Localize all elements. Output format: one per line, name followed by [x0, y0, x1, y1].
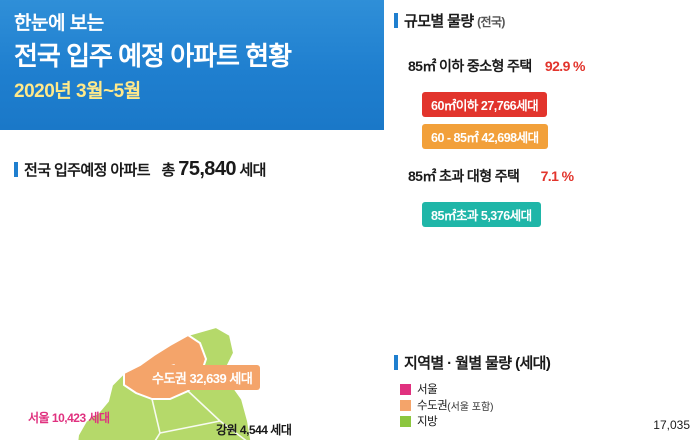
left-section-title-text: 전국 입주예정 아파트 [24, 162, 150, 179]
legend-label-jibang: 지방 [417, 413, 437, 429]
legend-swatch-jibang [400, 416, 411, 427]
infographic-root: 한눈에 보는 전국 입주 예정 아파트 현황 2020년 3월~5월 전국 입주… [0, 0, 700, 440]
legend-swatch-seoul [400, 384, 411, 395]
left-section-title: 전국 입주예정 아파트 총 75,840 세대 [14, 158, 266, 181]
map-label-gangwon: 강원 4,544 세대 [216, 421, 291, 438]
legend-item-sudogwon: 수도권 (서울 포함) [400, 397, 494, 413]
scale-large-text: 85㎡ 초과 대형 주택 [408, 168, 519, 184]
tag-over-85: 85㎡초과 5,376세대 [422, 202, 541, 227]
region-month-panel-title: 지역별 · 월별 물량 (세대) [394, 352, 550, 373]
scale-small-percent: 92.9 % [545, 58, 585, 74]
scale-row-small-label: 85㎡ 이하 중소형 주택 92.9 % [408, 56, 585, 76]
region-month-title-sub: (세대) [515, 355, 550, 372]
blue-bar-icon-2 [394, 13, 398, 28]
legend-item-jibang: 지방 [400, 413, 494, 429]
tag-under-60: 60㎡이하 27,766세대 [422, 92, 547, 117]
bar-value-first: 17,035 [653, 418, 690, 432]
total-label: 총 [162, 162, 175, 179]
legend-item-seoul: 서울 [400, 381, 494, 397]
map-label-seoul: 서울 10,423 세대 [28, 409, 110, 426]
chart-legend: 서울 수도권 (서울 포함) 지방 [400, 381, 494, 429]
legend-sub-sudogwon: (서울 포함) [447, 398, 493, 413]
scale-panel-title-text: 규모별 물량 [404, 13, 474, 30]
page-title: 전국 입주 예정 아파트 현황 [14, 36, 291, 73]
legend-label-sudogwon: 수도권 [417, 397, 447, 413]
banner-period: 2020년 3월~5월 [14, 76, 141, 103]
legend-label-seoul: 서울 [417, 381, 437, 397]
scale-panel-title-sub: (전국) [477, 15, 505, 29]
map-label-sudogwon: 수도권 32,639 세대 [144, 365, 260, 390]
scale-panel-title: 규모별 물량 (전국) [394, 10, 505, 31]
tag-60-to-85: 60 - 85㎡ 42,698세대 [422, 124, 548, 149]
region-month-title-text: 지역별 · 월별 물량 [404, 355, 512, 372]
korea-map: 수도권 32,639 세대 서울 10,423 세대 인천·경기 22,216 … [20, 325, 370, 440]
legend-swatch-sudogwon [400, 400, 411, 411]
blue-bar-icon [14, 162, 18, 177]
scale-row-large-label: 85㎡ 초과 대형 주택 7.1 % [408, 166, 573, 186]
banner-line-1: 한눈에 보는 [14, 8, 104, 35]
blue-bar-icon-3 [394, 355, 398, 370]
scale-small-text: 85㎡ 이하 중소형 주택 [408, 58, 532, 74]
total-value: 75,840 [178, 158, 236, 180]
right-panel: 규모별 물량 (전국) 85㎡ 이하 중소형 주택 92.9 % 60㎡이하 2… [384, 0, 700, 440]
left-panel: 전국 입주예정 아파트 총 75,840 세대 [0, 130, 383, 440]
total-unit: 세대 [239, 162, 265, 179]
scale-large-percent: 7.1 % [541, 168, 574, 184]
